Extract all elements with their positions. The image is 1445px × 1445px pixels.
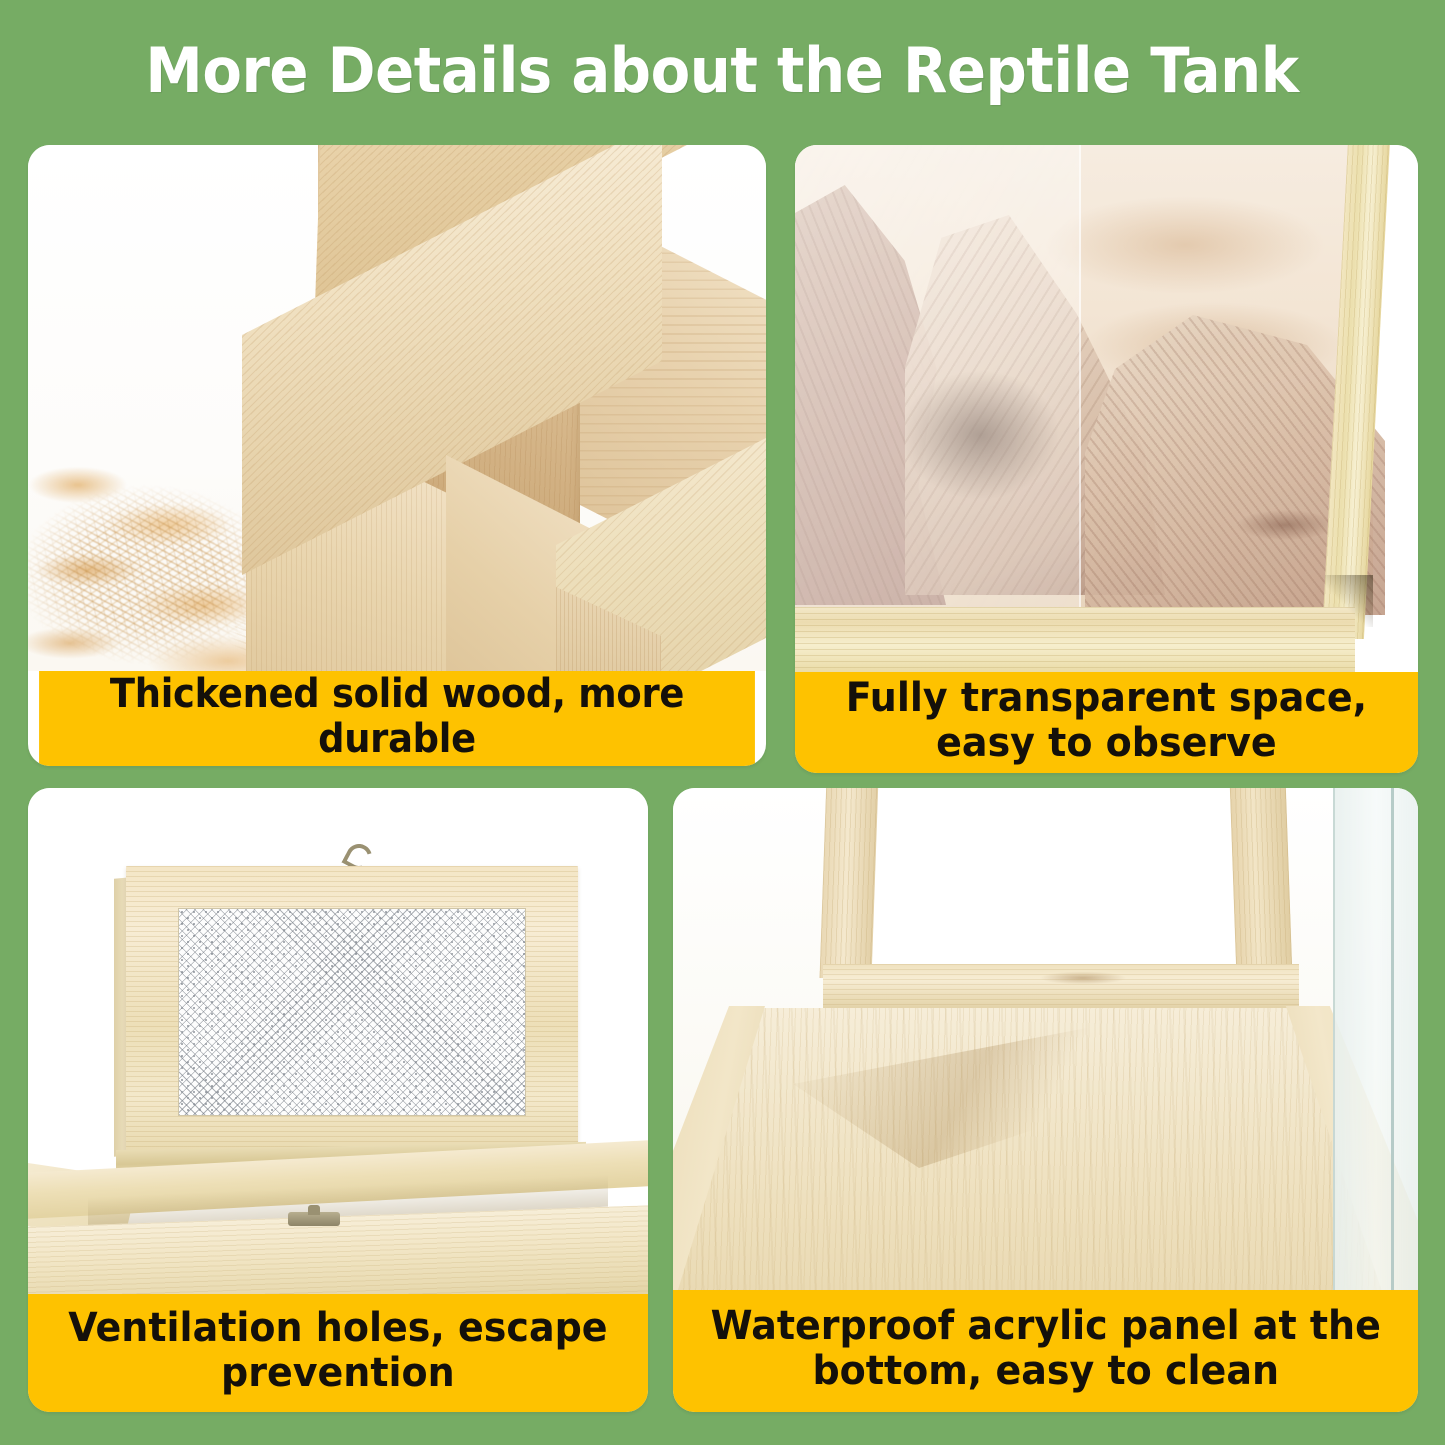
photo-tank-bottom-panel [673, 788, 1418, 1290]
feature-card-thickened-solid-wood: Thickened solid wood, more durable [28, 145, 766, 766]
tank-back-opening [869, 788, 1287, 972]
feature-card-waterproof-acrylic-panel: Waterproof acrylic panel at the bottom, … [673, 788, 1418, 1412]
tank-glass-side-panel [1333, 788, 1418, 1290]
wood-frame-corner-shadow [1325, 575, 1373, 627]
caption-line: prevention [68, 1351, 607, 1396]
wood-frame-bottom-rail [795, 607, 1355, 672]
product-infographic: More Details about the Reptile Tank Thic… [0, 0, 1445, 1445]
photo-transparent-acrylic-front [795, 145, 1418, 672]
caption-waterproof-acrylic-panel: Waterproof acrylic panel at the bottom, … [673, 1290, 1418, 1412]
tank-corner-post-left [820, 788, 879, 978]
feature-card-fully-transparent-space: Fully transparent space, easy to observe [795, 145, 1418, 773]
feature-card-ventilation-holes: Ventilation holes, escape prevention [28, 788, 648, 1412]
acrylic-panel-overlay [795, 145, 1081, 615]
caption-line: bottom, easy to clean [710, 1349, 1380, 1394]
caption-line: Fully transparent space, [846, 676, 1367, 721]
caption-thickened-solid-wood: Thickened solid wood, more durable [39, 671, 755, 766]
photo-mesh-ventilation-lid [28, 788, 648, 1294]
caption-ventilation-holes: Ventilation holes, escape prevention [28, 1294, 648, 1412]
ventilation-mesh-screen [178, 908, 526, 1116]
tank-glass-edge-line [1391, 788, 1394, 1290]
caption-fully-transparent-space: Fully transparent space, easy to observe [795, 672, 1418, 773]
tank-corner-post-right [1230, 788, 1293, 978]
caption-line: Waterproof acrylic panel at the [710, 1304, 1380, 1349]
page-title-text: More Details about the Reptile Tank [146, 34, 1299, 107]
photo-solid-wood-blocks [28, 145, 766, 671]
caption-line: Thickened solid wood, more durable [70, 672, 724, 762]
caption-line: Ventilation holes, escape [68, 1306, 607, 1351]
page-title: More Details about the Reptile Tank [0, 0, 1445, 140]
caption-line: easy to observe [846, 721, 1367, 766]
latch-plate [288, 1212, 340, 1226]
